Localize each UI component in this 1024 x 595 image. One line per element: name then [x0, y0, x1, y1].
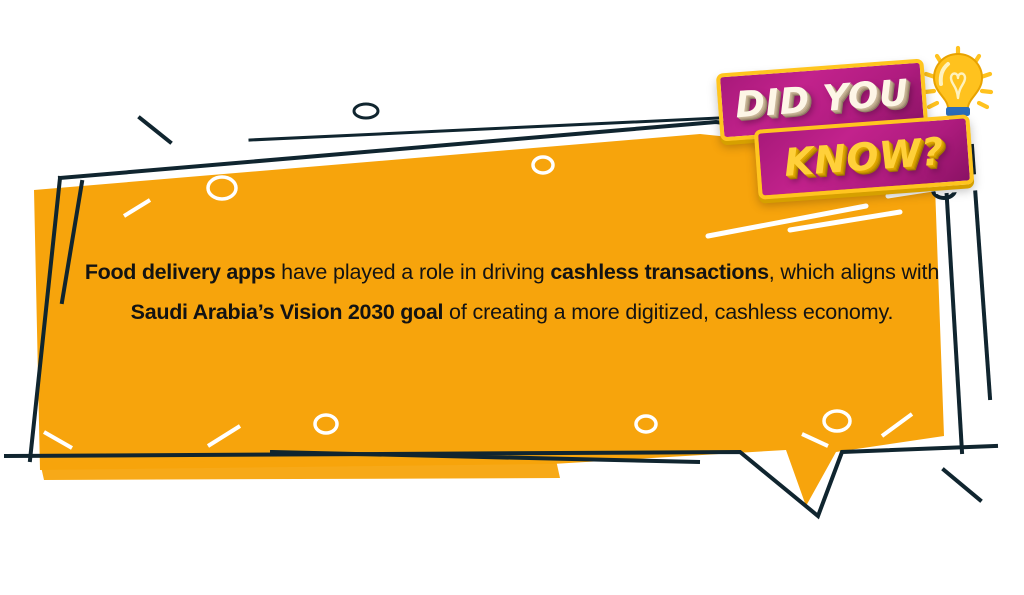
did-you-badge-label: DID YOU	[734, 76, 910, 125]
navy-mark-bottom-right	[944, 470, 980, 500]
know-badge-label: KNOW?	[783, 132, 945, 182]
did-you-know-banner: Food delivery apps have played a role in…	[0, 0, 1024, 595]
orange-panel-shadow-edge	[40, 460, 560, 480]
navy-mark-diagonal	[140, 118, 170, 142]
